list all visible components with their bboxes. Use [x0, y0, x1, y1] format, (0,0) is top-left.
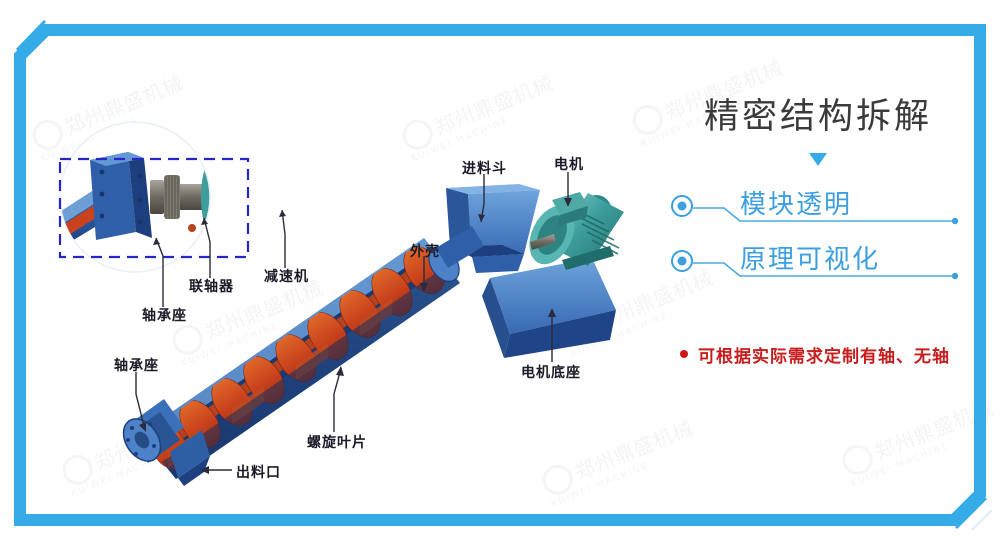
feature-panel: 精密结构拆解 模块透明 原 [668, 98, 968, 367]
motor-base [482, 258, 616, 358]
content-canvas: 轴承座 联轴器 减速机 进料斗 电机 外壳 电机底座 轴承座 出料口 螺旋叶片 … [32, 42, 968, 508]
page-title: 精密结构拆解 [668, 98, 968, 137]
callout-motor-base: 电机底座 [521, 362, 581, 382]
coupling-part [150, 180, 164, 214]
feature-item-1[interactable]: 原理可视化 [668, 239, 968, 294]
frame-accent-bottomright-2 [972, 510, 992, 530]
callout-bearing-seat-top: 轴承座 [142, 305, 187, 325]
callout-motor: 电机 [554, 154, 584, 174]
bearing-reducer-detail-inset [52, 122, 285, 272]
feature-label-0: 模块透明 [740, 184, 852, 221]
customization-note-text: 可根据实际需求定制有轴、无轴 [698, 342, 950, 367]
feature-bullet-dot-icon [678, 201, 687, 210]
callout-discharge-outlet: 出料口 [236, 462, 281, 482]
feature-bullet-dot-icon [678, 256, 687, 265]
customization-note: 可根据实际需求定制有轴、无轴 [668, 342, 968, 367]
feature-line-end-dot-icon [952, 272, 958, 278]
callout-coupling: 联轴器 [189, 276, 234, 296]
feature-item-0[interactable]: 模块透明 [668, 184, 968, 239]
callout-feed-hopper: 进料斗 [462, 158, 507, 178]
callout-bearing-seat-low: 轴承座 [114, 355, 159, 375]
callout-spiral-blade: 螺旋叶片 [307, 432, 367, 452]
callout-reducer: 减速机 [264, 266, 309, 286]
machine-illustration: 轴承座 联轴器 减速机 进料斗 电机 外壳 电机底座 轴承座 出料口 螺旋叶片 [32, 42, 652, 508]
feature-line-end-dot-icon [952, 217, 958, 223]
feature-label-1: 原理可视化 [740, 239, 880, 276]
red-dot-icon [680, 350, 688, 358]
callout-casing: 外壳 [410, 241, 440, 261]
triangle-down-icon-wrap [668, 151, 968, 170]
bearing-housing [90, 152, 136, 240]
triangle-down-icon [809, 153, 827, 166]
feature-list: 模块透明 原理可视化 [668, 184, 968, 294]
